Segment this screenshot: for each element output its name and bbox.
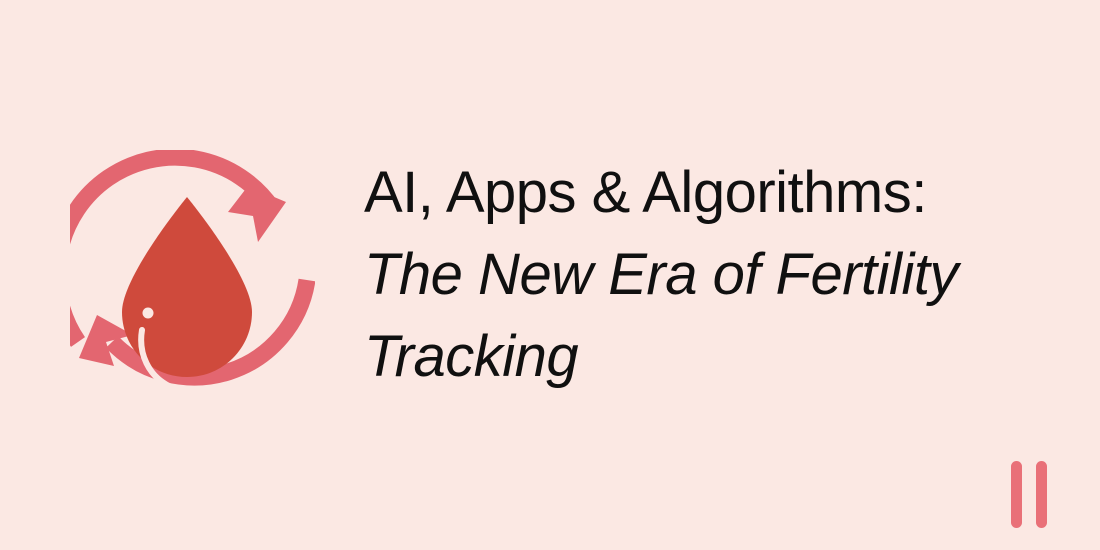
pause-bar-left bbox=[1011, 461, 1022, 528]
headline-line-1: AI, Apps & Algorithms: bbox=[364, 152, 1024, 234]
pause-bar-right bbox=[1036, 461, 1047, 528]
banner-canvas: AI, Apps & Algorithms: The New Era of Fe… bbox=[0, 0, 1100, 550]
headline-block: AI, Apps & Algorithms: The New Era of Fe… bbox=[364, 152, 1024, 398]
cycle-arrowhead-top bbox=[228, 186, 286, 242]
headline-line-3: Tracking bbox=[364, 316, 1024, 398]
fertility-cycle-droplet-icon bbox=[70, 150, 315, 395]
headline-line-2: The New Era of Fertility bbox=[364, 234, 1024, 316]
pause-bars-mark bbox=[1011, 461, 1047, 528]
droplet-highlight-dot bbox=[143, 308, 154, 319]
